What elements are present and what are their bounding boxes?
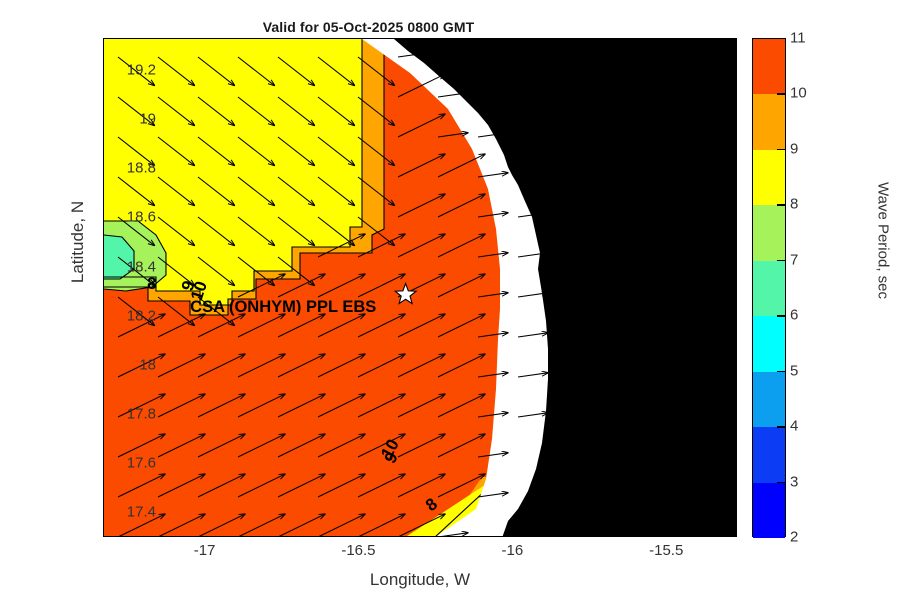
y-tick-label: 18.2 <box>127 307 156 324</box>
colorbar-band <box>753 316 785 371</box>
y-tick-label: 17.8 <box>127 406 156 423</box>
colorbar-tick-label: 6 <box>790 307 798 324</box>
x-tick-label: -17 <box>194 542 216 559</box>
colorbar-tick-label: 11 <box>790 30 806 47</box>
colorbar-tick-mark <box>777 426 785 427</box>
colorbar-tick-label: 8 <box>790 196 798 213</box>
x-tick-label: -16 <box>501 542 523 559</box>
colorbar-label: Wave Period, sec <box>875 126 892 356</box>
y-tick-label: 19.2 <box>127 61 156 78</box>
colorbar-band <box>753 94 785 149</box>
contour-label: 8 <box>147 274 156 294</box>
y-tick-label: 18 <box>139 356 156 373</box>
colorbar-band <box>753 427 785 482</box>
colorbar-tick-mark <box>777 93 785 94</box>
y-tick-label: 19 <box>139 111 156 128</box>
contour-label-layer: 89101098 <box>104 39 736 536</box>
y-tick-label: 18.6 <box>127 209 156 226</box>
colorbar-tick-mark <box>777 482 785 483</box>
colorbar-band <box>753 261 785 316</box>
colorbar-tick-mark <box>777 315 785 316</box>
x-axis-label: Longitude, W <box>103 570 737 590</box>
colorbar-tick-label: 2 <box>790 529 798 546</box>
colorbar-band <box>753 483 785 538</box>
y-tick-label: 17.4 <box>127 504 156 521</box>
colorbar-tick-mark <box>777 260 785 261</box>
colorbar-tick-label: 4 <box>790 418 798 435</box>
y-tick-label: 17.6 <box>127 455 156 472</box>
figure-title: Valid for 05-Oct-2025 0800 GMT <box>0 19 737 35</box>
colorbar-tick-label: 9 <box>790 140 798 157</box>
colorbar-band <box>753 205 785 260</box>
wave-period-forecast-figure: Valid for 05-Oct-2025 0800 GMT <box>0 0 900 600</box>
colorbar-tick-label: 7 <box>790 251 798 268</box>
colorbar-tick-label: 5 <box>790 362 798 379</box>
colorbar-tick-mark <box>777 204 785 205</box>
y-tick-label: 18.8 <box>127 160 156 177</box>
y-axis-label: Latitude, N <box>68 152 88 332</box>
y-tick-label: 18.4 <box>127 258 156 275</box>
colorbar-tick-mark <box>777 149 785 150</box>
colorbar-band <box>753 372 785 427</box>
contour-label: 8 <box>422 494 441 516</box>
x-tick-label: -15.5 <box>649 542 683 559</box>
map-axes: CSA (ONHYM) PPL EBS 89101098 <box>103 38 737 537</box>
colorbar <box>752 38 786 537</box>
colorbar-band <box>753 39 785 94</box>
colorbar-band <box>753 150 785 205</box>
contour-label: 10 <box>187 279 212 303</box>
colorbar-tick-label: 10 <box>790 85 807 102</box>
x-tick-label: -16.5 <box>341 542 375 559</box>
colorbar-tick-label: 3 <box>790 473 798 490</box>
colorbar-tick-mark <box>777 371 785 372</box>
